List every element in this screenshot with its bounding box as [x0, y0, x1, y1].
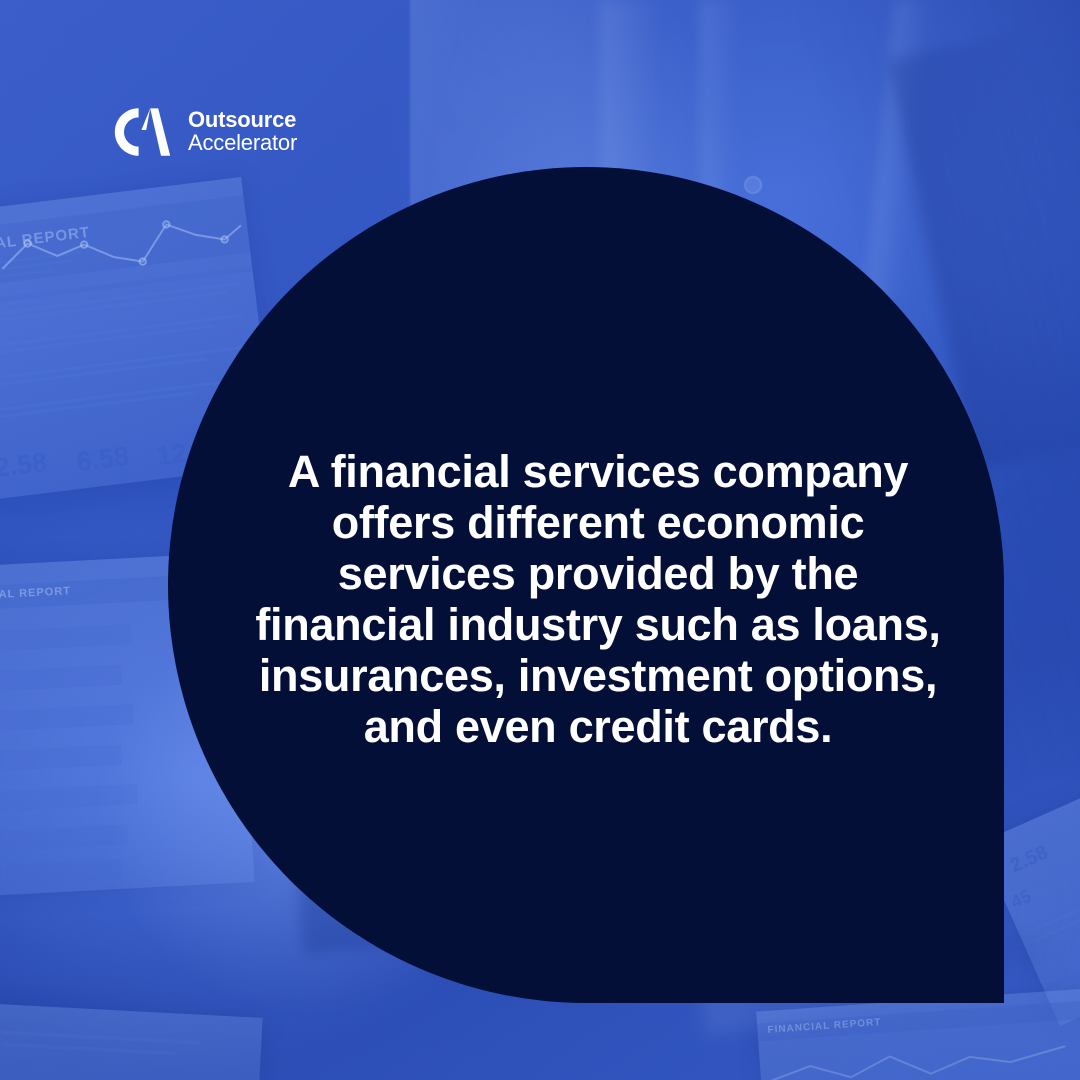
brand-name-line-1: Outsource — [188, 109, 297, 132]
headline-text: A financial services company offers diff… — [230, 446, 966, 752]
headline-line: financial industry such as loans, — [230, 599, 966, 650]
headline-line: services provided by the — [230, 548, 966, 599]
social-post-canvas: FINANCIAL REPORT 6 9 8 96 — [0, 0, 1080, 1080]
brand-wordmark: Outsource Accelerator — [188, 109, 297, 155]
brand-name-line-2: Accelerator — [188, 132, 297, 155]
headline-line: and even credit cards. — [230, 701, 966, 752]
brand-logo[interactable]: Outsource Accelerator — [105, 104, 297, 160]
headline-line: offers different economic — [230, 497, 966, 548]
headline-line: insurances, investment options, — [230, 650, 966, 701]
headline-line: A financial services company — [230, 446, 966, 497]
outsource-accelerator-monogram-icon — [105, 104, 171, 160]
